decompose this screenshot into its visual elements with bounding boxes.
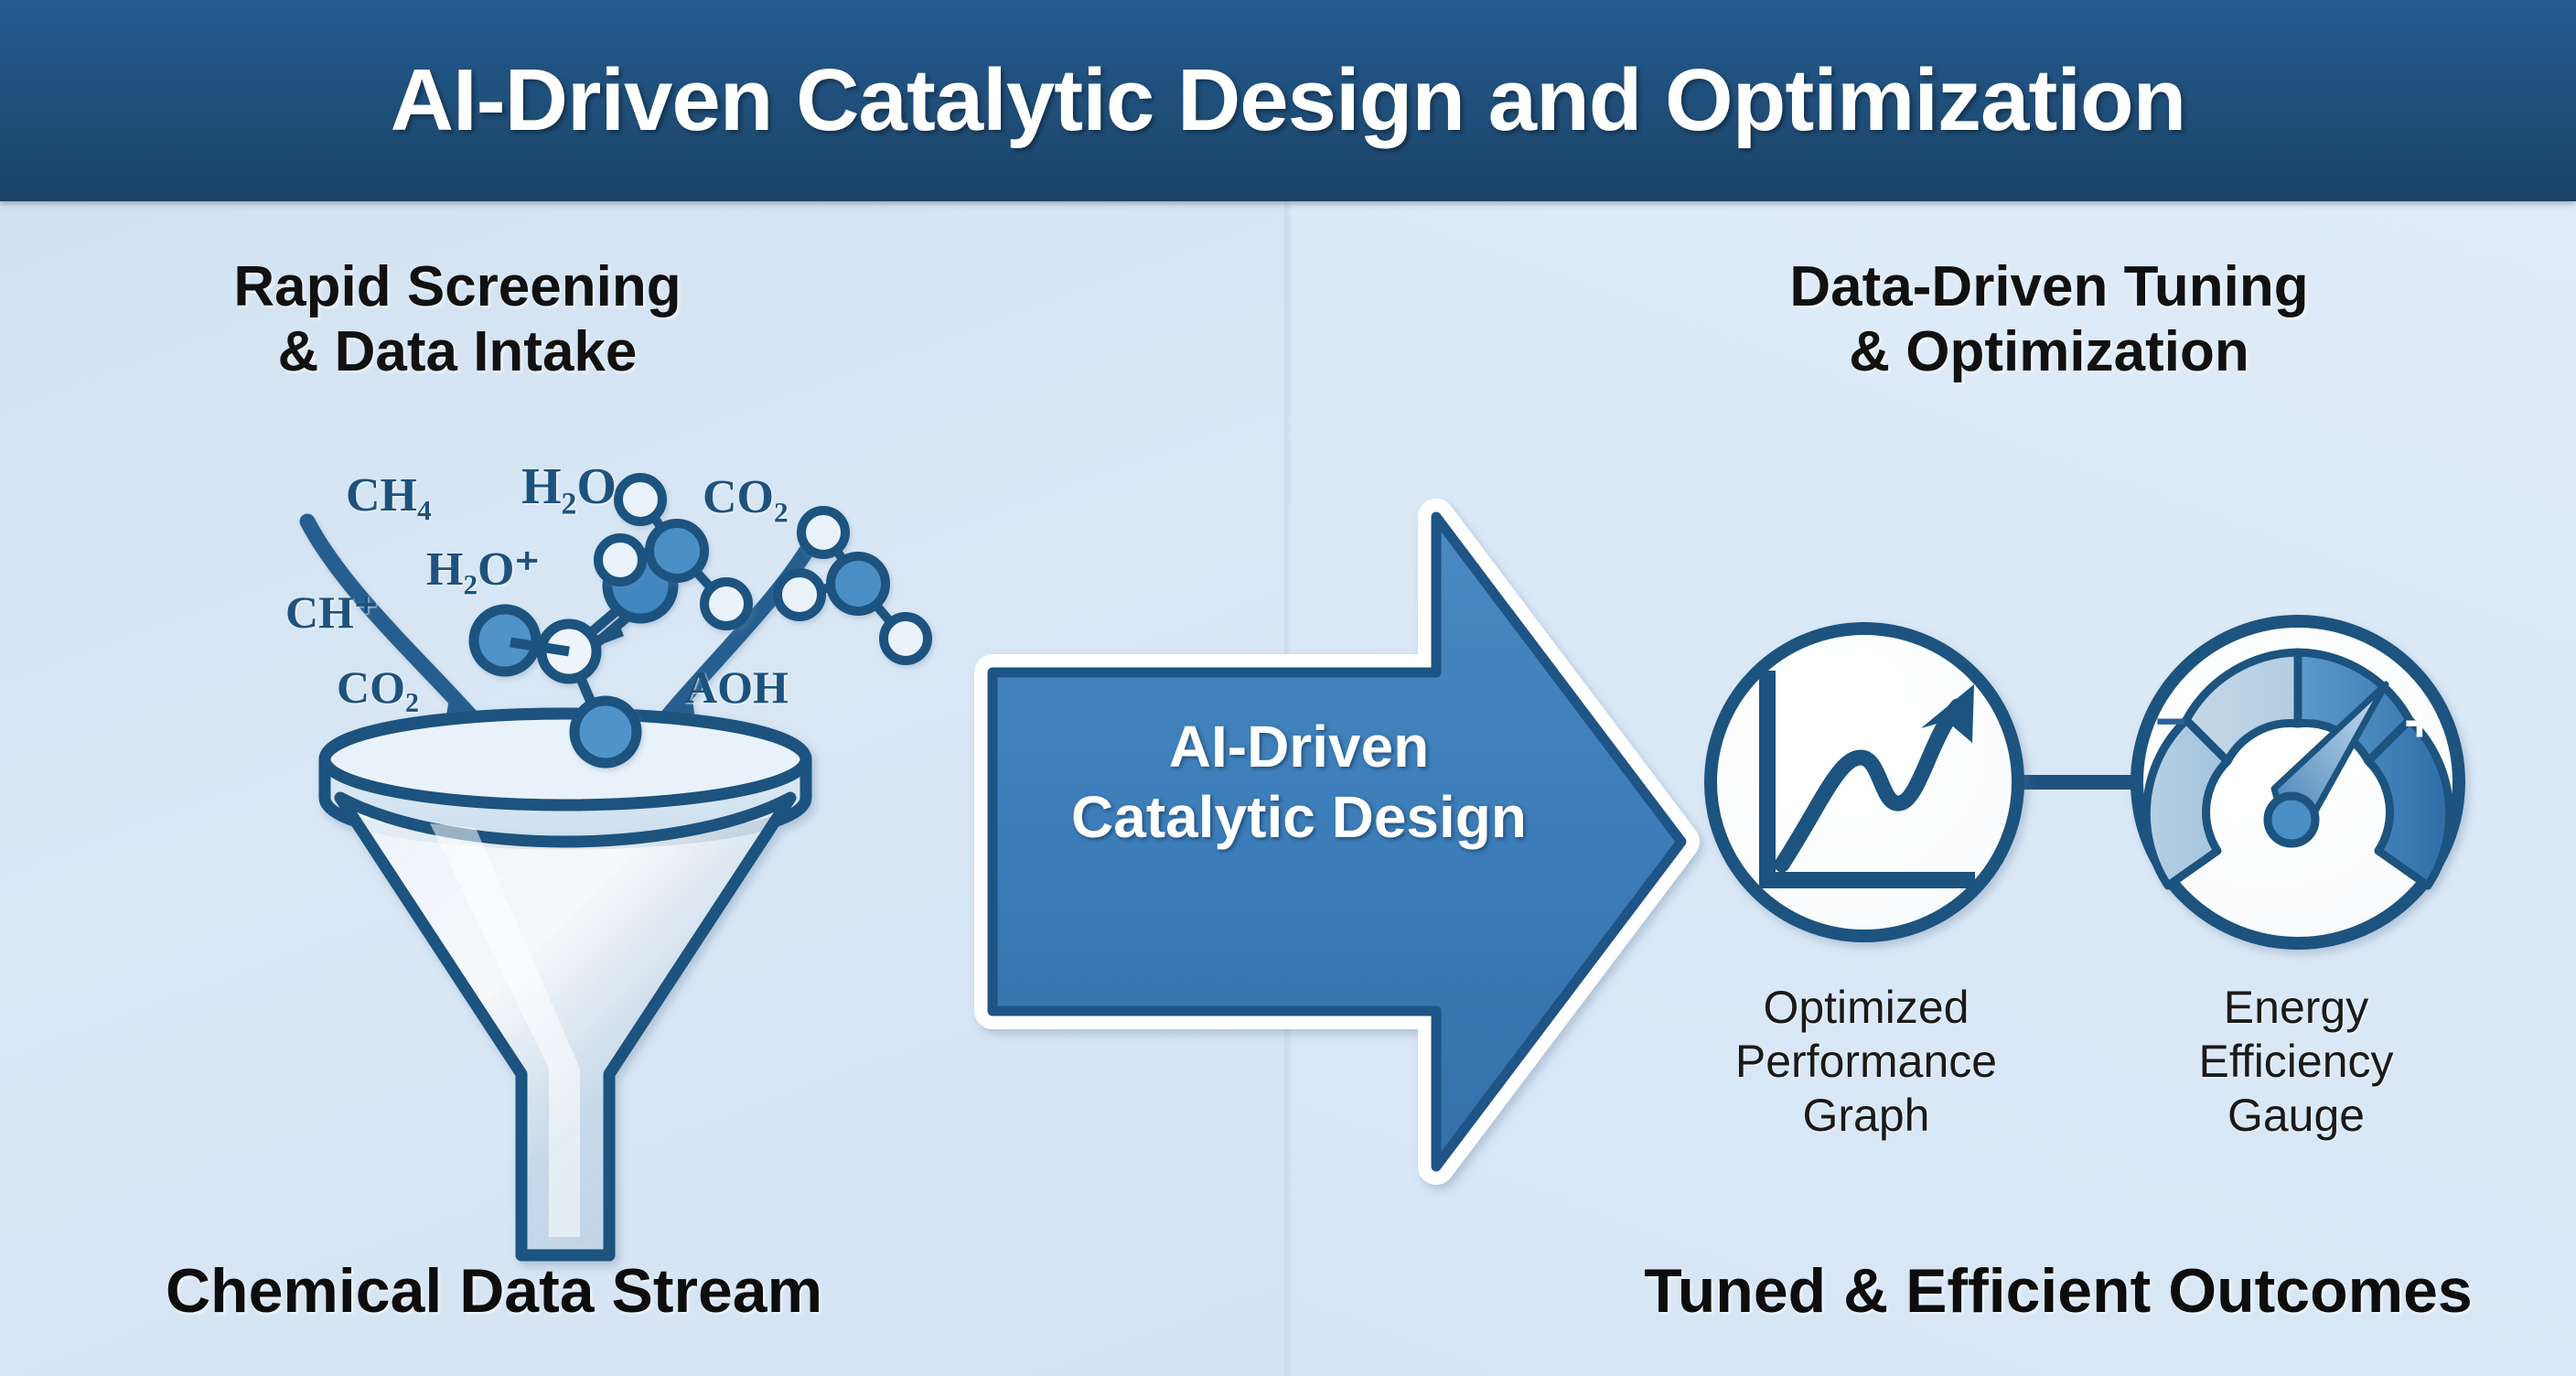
chem-label-h2o: H₂O: [521, 457, 617, 516]
arrow-label-line2: Catalytic Design: [1071, 784, 1527, 850]
graph-caption-line2: Performance: [1735, 1036, 1997, 1087]
right-heading-line2: & Optimization: [1849, 320, 2249, 383]
arrow-label-line1: AI-Driven: [1169, 714, 1430, 779]
right-heading-line1: Data-Driven Tuning: [1789, 255, 2308, 318]
graph-caption-line3: Graph: [1803, 1090, 1930, 1141]
chem-label-co2-top: CO₂: [703, 470, 789, 524]
chem-label-co2-bot: CO₂: [337, 661, 419, 714]
performance-graph-caption: Optimized Performance Graph: [1674, 981, 2058, 1143]
gauge-plus-label: +: [2404, 697, 2435, 750]
chem-label-aoh: AOH: [684, 661, 789, 714]
energy-gauge-caption: Energy Efficiency Gauge: [2104, 981, 2488, 1143]
header-bar: AI-Driven Catalytic Design and Optimizat…: [0, 0, 2576, 201]
chem-label-ch4: CH₄: [346, 468, 432, 522]
left-section-heading: Rapid Screening & Data Intake: [55, 254, 860, 385]
arrow-label: AI-Driven Catalytic Design: [1006, 712, 1592, 853]
right-section-heading: Data-Driven Tuning & Optimization: [1610, 254, 2488, 385]
gauge-minus-label: −: [2155, 695, 2186, 748]
gauge-caption-line2: Efficiency: [2198, 1036, 2393, 1087]
chem-label-ch-ion: CH⁺: [285, 586, 378, 639]
left-bottom-caption: Chemical Data Stream: [37, 1255, 951, 1327]
page-title: AI-Driven Catalytic Design and Optimizat…: [391, 50, 2186, 151]
left-heading-line1: Rapid Screening: [233, 255, 681, 318]
gauge-caption-line3: Gauge: [2227, 1090, 2365, 1141]
chem-label-h2o-ion: H₂O⁺: [426, 542, 540, 597]
left-heading-line2: & Data Intake: [278, 320, 638, 383]
gauge-caption-line1: Energy: [2224, 982, 2368, 1033]
graph-caption-line1: Optimized: [1763, 982, 1969, 1033]
infographic-canvas: AI-Driven Catalytic Design and Optimizat…: [0, 0, 2576, 1376]
right-bottom-caption: Tuned & Efficient Outcomes: [1555, 1255, 2561, 1327]
